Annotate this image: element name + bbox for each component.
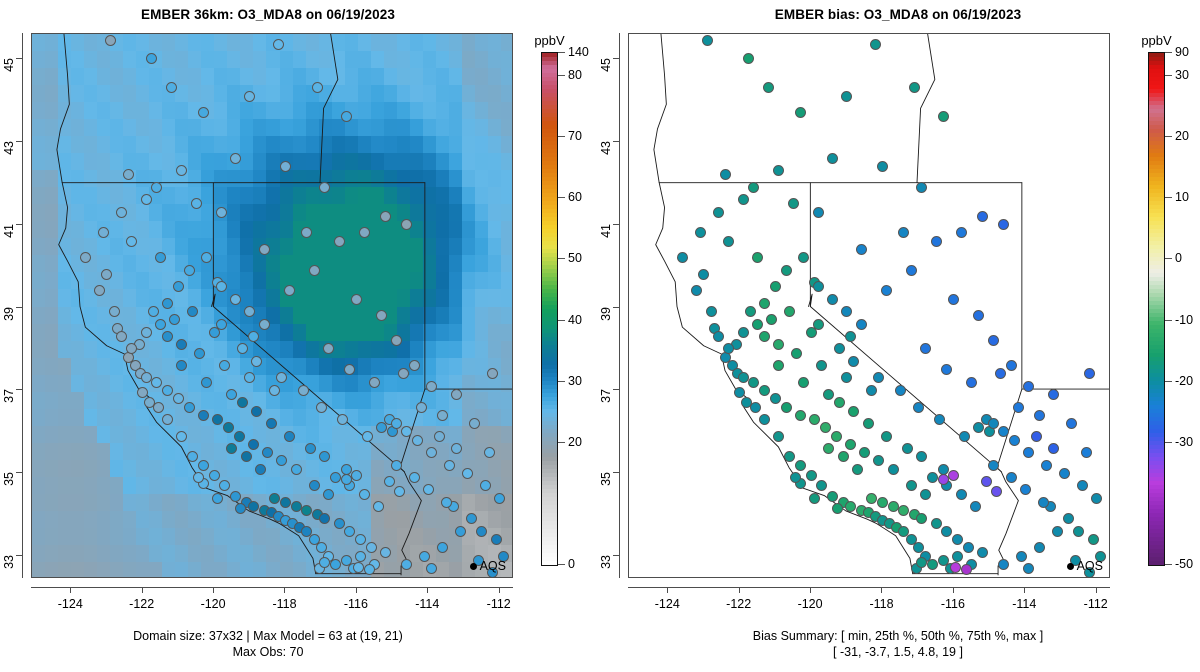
monitor-site-dot [745, 306, 756, 317]
monitor-site-dot [330, 472, 341, 483]
colorbar-tick [558, 564, 565, 565]
y-axis-tick [16, 389, 22, 390]
monitor-site-dot [380, 211, 391, 222]
colorbar-tick-label: 140 [568, 46, 589, 59]
monitor-site-dot [806, 470, 817, 481]
map-area-bias[interactable]: AQS [628, 33, 1110, 578]
monitor-site-dot [1006, 472, 1017, 483]
colorbar-tick-label: 20 [568, 436, 582, 449]
monitor-site-dot [870, 39, 881, 50]
monitor-site-dot [359, 227, 370, 238]
aqs-legend-label: AQS [1077, 559, 1103, 573]
y-axis-tick [613, 555, 619, 556]
colorbar-tick [1165, 320, 1172, 321]
colorbar-tick [558, 320, 565, 321]
monitor-site-dot [484, 447, 495, 458]
monitor-site-dot [244, 91, 255, 102]
y-axis-tick [613, 141, 619, 142]
x-axis-tick [667, 587, 668, 593]
monitor-site-dot [988, 418, 999, 429]
monitor-site-dot [212, 414, 223, 425]
monitor-site-dot [713, 207, 724, 218]
monitor-site-dot [380, 547, 391, 558]
monitor-site-dot [934, 414, 945, 425]
colorbar-tick-label: 0 [1175, 252, 1182, 265]
y-axis-tick-label: 41 [2, 224, 16, 264]
monitor-site-dot [241, 451, 252, 462]
y-axis-line [619, 33, 620, 578]
monitor-site-dot [462, 468, 473, 479]
monitor-site-dot [1088, 534, 1099, 545]
monitor-site-dot [391, 418, 402, 429]
y-axis-tick [16, 555, 22, 556]
monitor-site-dot [323, 489, 334, 500]
panel-bias: EMBER bias: O3_MDA8 on 06/19/2023 AQS -1… [600, 0, 1200, 672]
monitor-site-dot [269, 493, 280, 504]
monitor-site-dot [941, 526, 952, 537]
monitor-site-dot [856, 319, 867, 330]
monitor-site-dot [820, 422, 831, 433]
monitor-site-dot [706, 306, 717, 317]
colorbar-tick-label: -30 [1175, 436, 1193, 449]
monitor-site-dot [384, 476, 395, 487]
monitor-site-dot [330, 559, 341, 570]
x-axis-tick-label: -114 [994, 597, 1054, 611]
x-axis-tick-label: -120 [780, 597, 840, 611]
colorbar-tick [558, 52, 565, 53]
monitor-site-dot [738, 327, 749, 338]
monitor-site-dot [752, 319, 763, 330]
aqs-marker-icon [1067, 563, 1074, 570]
y-axis-tick-label: 43 [599, 141, 613, 181]
monitor-site-dot [194, 348, 205, 359]
colorbar-tick-label: 0 [568, 558, 575, 571]
y-axis-tick-label: 39 [599, 307, 613, 347]
monitor-site-dot [795, 410, 806, 421]
x-axis-tick-label: -122 [112, 597, 172, 611]
y-axis-tick [613, 472, 619, 473]
monitor-site-dot [273, 39, 284, 50]
monitor-site-dot [795, 460, 806, 471]
colorbar-tick-label: 30 [1175, 69, 1189, 82]
monitor-site-dot [759, 298, 770, 309]
monitor-site-dot [334, 236, 345, 247]
monitor-site-dot [845, 501, 856, 512]
monitor-site-dot [988, 335, 999, 346]
monitor-site-dot [193, 472, 204, 483]
x-axis-tick [356, 587, 357, 593]
x-axis-tick-label: -124 [637, 597, 697, 611]
monitor-site-dot [856, 244, 867, 255]
x-axis-tick [953, 587, 954, 593]
monitor-site-dot [444, 460, 455, 471]
monitor-site-dot [956, 489, 967, 500]
monitor-site-dot [173, 393, 184, 404]
monitor-site-dot [291, 464, 302, 475]
colorbar-tick-label: 70 [568, 130, 582, 143]
figure-root: EMBER 36km: O3_MDA8 on 06/19/2023 AQS -1… [0, 0, 1200, 672]
boundary-line [917, 34, 935, 183]
monitor-site-dot [409, 472, 420, 483]
monitor-site-dot [316, 402, 327, 413]
monitor-site-dot [781, 402, 792, 413]
x-axis-tick [810, 587, 811, 593]
monitor-site-dot [790, 472, 801, 483]
colorbar-tick [558, 197, 565, 198]
y-axis-tick-label: 45 [599, 58, 613, 98]
monitor-site-dot [1006, 360, 1017, 371]
colorbar-tick [558, 258, 565, 259]
panel-title-bias: EMBER bias: O3_MDA8 on 06/19/2023 [628, 7, 1168, 22]
monitor-site-dot [209, 470, 220, 481]
y-axis-tick-label: 37 [2, 389, 16, 429]
monitor-site-dot [344, 526, 355, 537]
monitor-site-dot [298, 385, 309, 396]
x-axis-tick [1024, 587, 1025, 593]
monitor-site-dot [216, 207, 227, 218]
monitor-site-dot [809, 414, 820, 425]
monitor-site-dot [455, 526, 466, 537]
monitor-site-dot [791, 348, 802, 359]
monitor-site-dot [906, 265, 917, 276]
y-axis-tick [16, 224, 22, 225]
y-axis-tick-label: 33 [599, 555, 613, 595]
aqs-marker-icon [470, 563, 477, 570]
monitor-site-dot [1031, 431, 1042, 442]
monitor-site-dot [961, 564, 972, 575]
monitor-site-dot [970, 501, 981, 512]
monitor-site-dot [952, 551, 963, 562]
monitor-site-dot [355, 551, 366, 562]
monitor-site-dot [216, 281, 227, 292]
monitor-site-dot [1063, 513, 1074, 524]
aqs-legend-label: AQS [480, 559, 506, 573]
monitor-site-dot [441, 497, 452, 508]
monitor-site-dot [1013, 402, 1024, 413]
monitor-site-dot [491, 534, 502, 545]
monitor-site-dot [105, 35, 116, 46]
colorbar-tick-label: -20 [1175, 374, 1193, 387]
x-axis-tick [213, 587, 214, 593]
y-axis-tick-label: 41 [599, 224, 613, 264]
monitor-site-dot [116, 207, 127, 218]
monitor-site-dot [827, 153, 838, 164]
y-axis-tick-label: 43 [2, 141, 16, 181]
x-axis-tick-label: -122 [709, 597, 769, 611]
x-axis-line [628, 587, 1110, 588]
x-axis-tick-label: -112 [469, 597, 529, 611]
monitor-site-dot [827, 294, 838, 305]
x-axis-tick-label: -124 [40, 597, 100, 611]
colorbar-tick-label: 90 [1175, 46, 1189, 59]
monitor-site-dot [838, 451, 849, 462]
monitor-site-dot [116, 331, 127, 342]
monitor-site-dot [841, 91, 852, 102]
monitor-site-dot [494, 493, 505, 504]
aqs-legend-bias: AQS [1067, 559, 1103, 573]
x-axis-tick [499, 587, 500, 593]
colorbar-segment [1149, 561, 1164, 566]
monitor-site-dot [153, 402, 164, 413]
monitor-site-dot [255, 464, 266, 475]
monitor-site-dot [1059, 468, 1070, 479]
colorbar-gradient-bias [1148, 52, 1165, 566]
monitor-site-dot [881, 285, 892, 296]
map-area-model[interactable]: AQS [31, 33, 513, 578]
x-axis-tick [70, 587, 71, 593]
monitor-site-dot [895, 385, 906, 396]
monitor-site-dot [209, 327, 220, 338]
y-axis-tick [613, 224, 619, 225]
monitor-site-dot [988, 460, 999, 471]
monitor-site-dot [981, 476, 992, 487]
monitor-site-dot [184, 402, 195, 413]
x-axis-tick [881, 587, 882, 593]
monitor-site-dot [938, 474, 949, 485]
x-axis-tick-label: -120 [183, 597, 243, 611]
monitor-site-dot [416, 402, 427, 413]
monitor-site-dot [713, 331, 724, 342]
colorbar-model: ppbV 020304050607080140 [541, 52, 558, 566]
x-axis-tick-label: -116 [326, 597, 386, 611]
colorbar-tick [1165, 564, 1172, 565]
monitor-site-dot [284, 431, 295, 442]
y-axis-tick [613, 389, 619, 390]
monitor-site-dot [466, 513, 477, 524]
monitor-site-dot [434, 431, 445, 442]
monitor-site-dot [230, 294, 241, 305]
colorbar-tick-label: 50 [568, 252, 582, 265]
monitor-site-dot [881, 431, 892, 442]
monitor-site-dot [931, 236, 942, 247]
monitor-site-dot [956, 227, 967, 238]
colorbar-tick [558, 381, 565, 382]
y-axis-tick-label: 33 [2, 555, 16, 595]
monitor-site-dot [341, 464, 352, 475]
x-axis-tick [739, 587, 740, 593]
monitor-site-dot [364, 564, 375, 575]
monitor-site-dot [341, 474, 352, 485]
colorbar-tick-label: -10 [1175, 313, 1193, 326]
monitor-site-dot [845, 331, 856, 342]
monitor-site-dot [738, 194, 749, 205]
monitor-site-dot [877, 497, 888, 508]
y-axis-tick [16, 307, 22, 308]
monitor-site-dot [781, 265, 792, 276]
colorbar-tick-label: 60 [568, 191, 582, 204]
monitor-site-dot [230, 153, 241, 164]
monitor-site-dot [1016, 551, 1027, 562]
y-axis-tick-label: 37 [599, 389, 613, 429]
monitor-site-dot [309, 480, 320, 491]
colorbar-tick-label: 40 [568, 313, 582, 326]
monitor-site-dot [155, 319, 166, 330]
colorbar-tick [1165, 136, 1172, 137]
monitor-site-dot [806, 327, 817, 338]
colorbar-tick [1165, 381, 1172, 382]
colorbar-tick [558, 442, 565, 443]
y-axis-tick [16, 58, 22, 59]
monitor-site-dot [959, 431, 970, 442]
monitor-site-dot [162, 298, 173, 309]
monitor-site-dot [248, 501, 259, 512]
panel-title-model: EMBER 36km: O3_MDA8 on 06/19/2023 [0, 7, 536, 22]
monitor-site-dot [280, 497, 291, 508]
colorbar-segment [542, 561, 557, 566]
monitor-site-dot [198, 410, 209, 421]
monitor-site-dot [770, 393, 781, 404]
colorbar-tick [1165, 442, 1172, 443]
x-axis-tick [284, 587, 285, 593]
monitor-site-dot [259, 319, 270, 330]
monitor-site-dot [309, 265, 320, 276]
monitor-site-dot [702, 35, 713, 46]
y-axis-tick-label: 45 [2, 58, 16, 98]
y-axis-tick-label: 39 [2, 307, 16, 347]
colorbar-title-bias: ppbV [1141, 33, 1171, 48]
footer-line2-bias: [ -31, -3.7, 1.5, 4.8, 19 ] [628, 645, 1168, 659]
monitor-site-dot [198, 460, 209, 471]
monitor-site-dot [334, 518, 345, 529]
monitor-site-dot [827, 491, 838, 502]
aqs-legend-model: AQS [470, 559, 506, 573]
monitor-site-dot [176, 431, 187, 442]
monitor-site-dot [809, 493, 820, 504]
x-axis-tick-label: -116 [923, 597, 983, 611]
monitor-site-dot [259, 244, 270, 255]
monitor-site-dot [1034, 410, 1045, 421]
monitor-site-dot [863, 418, 874, 429]
monitor-site-dot [888, 464, 899, 475]
monitor-site-dot [845, 439, 856, 450]
monitor-site-dot [291, 501, 302, 512]
monitor-site-dot [419, 551, 430, 562]
colorbar-bias: ppbV -50-30-20-10010203090 [1148, 52, 1165, 566]
monitor-site-dot [906, 480, 917, 491]
monitor-site-dot [888, 501, 899, 512]
colorbar-tick [558, 136, 565, 137]
monitor-site-dot [234, 431, 245, 442]
monitor-site-dot [305, 443, 316, 454]
monitor-site-dot [248, 331, 259, 342]
monitor-site-dot [977, 211, 988, 222]
monitor-site-dot [409, 360, 420, 371]
x-axis-tick [1096, 587, 1097, 593]
monitor-site-dot [931, 518, 942, 529]
colorbar-tick-label: -50 [1175, 558, 1193, 571]
monitor-site-dot [1041, 460, 1052, 471]
monitor-site-dot [362, 431, 373, 442]
y-axis-tick-label: 35 [2, 472, 16, 512]
monitor-site-dot [913, 402, 924, 413]
monitor-site-dot [966, 377, 977, 388]
panel-model: EMBER 36km: O3_MDA8 on 06/19/2023 AQS -1… [0, 0, 600, 672]
y-axis-tick [613, 307, 619, 308]
colorbar-tick-label: 30 [568, 374, 582, 387]
y-axis-tick [613, 58, 619, 59]
monitor-site-dot [223, 422, 234, 433]
monitor-site-dot [977, 547, 988, 558]
footer-line2-model: Max Obs: 70 [0, 645, 536, 659]
colorbar-tick-label: 80 [568, 69, 582, 82]
colorbar-title-model: ppbV [534, 33, 564, 48]
monitor-site-dot [1052, 526, 1063, 537]
monitor-site-dot [141, 327, 152, 338]
monitor-site-dot [938, 464, 949, 475]
colorbar-tick [1165, 75, 1172, 76]
monitor-site-dot [412, 435, 423, 446]
colorbar-tick [558, 75, 565, 76]
x-axis-tick-label: -118 [254, 597, 314, 611]
monitor-site-dot [1091, 493, 1102, 504]
colorbar-tick-label: 20 [1175, 130, 1189, 143]
monitor-site-dot [109, 306, 120, 317]
footer-line1-bias: Bias Summary: [ min, 25th %, 50th %, 75t… [628, 629, 1168, 643]
y-axis-tick-label: 35 [599, 472, 613, 512]
monitor-site-dot [212, 493, 223, 504]
monitor-site-dot [750, 402, 761, 413]
monitor-site-dot [1038, 497, 1049, 508]
monitor-site-dot [927, 559, 938, 570]
monitor-site-dot [813, 281, 824, 292]
monitor-site-dot [148, 306, 159, 317]
colorbar-gradient-model [541, 52, 558, 566]
monitor-site-dot [359, 489, 370, 500]
y-axis-tick [16, 141, 22, 142]
monitor-site-dot [927, 472, 938, 483]
monitor-site-dot [369, 377, 380, 388]
monitor-site-dot [141, 194, 152, 205]
y-axis-tick [16, 472, 22, 473]
monitor-site-dot [337, 414, 348, 425]
monitor-site-dot [437, 410, 448, 421]
monitor-site-dot [852, 464, 863, 475]
monitor-site-dot [920, 489, 931, 500]
colorbar-tick-label: 10 [1175, 191, 1189, 204]
x-axis-tick [427, 587, 428, 593]
x-axis-line [31, 587, 513, 588]
colorbar-tick [1165, 52, 1172, 53]
monitor-site-dot [266, 418, 277, 429]
boundary-line [320, 34, 338, 183]
x-axis-tick [142, 587, 143, 593]
colorbar-tick [1165, 258, 1172, 259]
footer-line1-model: Domain size: 37x32 | Max Model = 63 at (… [0, 629, 536, 643]
monitor-site-dot [902, 443, 913, 454]
monitor-site-dot [831, 431, 842, 442]
y-axis-line [22, 33, 23, 578]
monitor-site-dot [373, 501, 384, 512]
colorbar-tick [1165, 197, 1172, 198]
monitor-site-dot [1009, 435, 1020, 446]
monitor-site-dot [813, 207, 824, 218]
monitor-site-dot [1081, 447, 1092, 458]
monitor-site-dot [184, 265, 195, 276]
monitor-site-dot [391, 460, 402, 471]
x-axis-tick-label: -112 [1066, 597, 1126, 611]
monitor-site-dot [773, 431, 784, 442]
monitor-site-dot [391, 335, 402, 346]
x-axis-tick-label: -114 [397, 597, 457, 611]
monitor-site-dot [248, 439, 259, 450]
monitor-site-dot [230, 491, 241, 502]
x-axis-tick-label: -118 [851, 597, 911, 611]
monitor-site-dot [866, 493, 877, 504]
monitor-site-dot [284, 285, 295, 296]
